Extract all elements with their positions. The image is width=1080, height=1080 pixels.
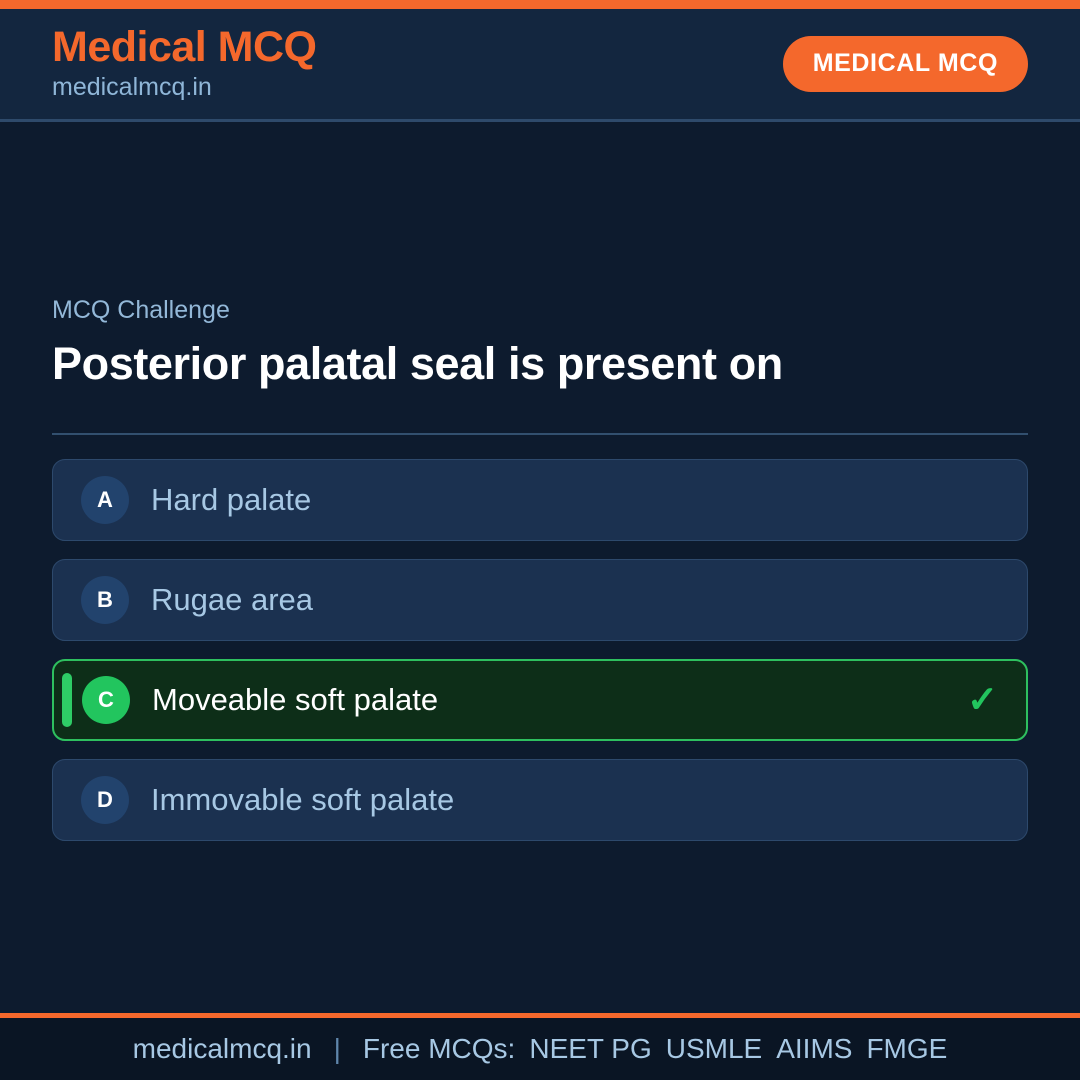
option-d-text: Immovable soft palate xyxy=(151,784,454,815)
option-c[interactable]: C Moveable soft palate ✓ xyxy=(52,659,1028,741)
footer-exam-neet-pg: NEET PG xyxy=(515,1033,651,1065)
option-b-letter: B xyxy=(81,576,129,624)
brand-block: Medical MCQ medicalmcq.in xyxy=(52,25,317,103)
footer-exam-aiims: AIIMS xyxy=(762,1033,852,1065)
footer-separator: | xyxy=(312,1033,363,1065)
question-text: Posterior palatal seal is present on xyxy=(52,337,1012,391)
options-list: A Hard palate B Rugae area C Moveable so… xyxy=(52,459,1028,841)
option-b[interactable]: B Rugae area xyxy=(52,559,1028,641)
brand-subtitle: medicalmcq.in xyxy=(52,72,317,103)
option-a-letter: A xyxy=(81,476,129,524)
page-footer: medicalmcq.in | Free MCQs: NEET PG USMLE… xyxy=(0,1013,1080,1080)
option-c-text: Moveable soft palate xyxy=(152,684,438,715)
footer-exam-usmle: USMLE xyxy=(652,1033,762,1065)
footer-label: Free MCQs: xyxy=(363,1033,515,1065)
eyebrow-label: MCQ Challenge xyxy=(52,295,1028,325)
option-a-text: Hard palate xyxy=(151,484,311,515)
option-a[interactable]: A Hard palate xyxy=(52,459,1028,541)
option-d-letter: D xyxy=(81,776,129,824)
check-icon: ✓ xyxy=(967,681,998,718)
top-accent-bar xyxy=(0,0,1080,9)
footer-content: medicalmcq.in | Free MCQs: NEET PG USMLE… xyxy=(133,1033,948,1065)
option-c-letter: C xyxy=(82,676,130,724)
footer-exam-fmge: FMGE xyxy=(852,1033,947,1065)
page-header: Medical MCQ medicalmcq.in MEDICAL MCQ xyxy=(0,9,1080,119)
header-badge: MEDICAL MCQ xyxy=(783,36,1028,92)
brand-title: Medical MCQ xyxy=(52,25,317,70)
footer-site: medicalmcq.in xyxy=(133,1033,312,1065)
option-d[interactable]: D Immovable soft palate xyxy=(52,759,1028,841)
correct-accent-bar xyxy=(62,673,72,727)
question-divider xyxy=(52,433,1028,435)
main-content: MCQ Challenge Posterior palatal seal is … xyxy=(0,122,1080,1013)
option-b-text: Rugae area xyxy=(151,584,313,615)
